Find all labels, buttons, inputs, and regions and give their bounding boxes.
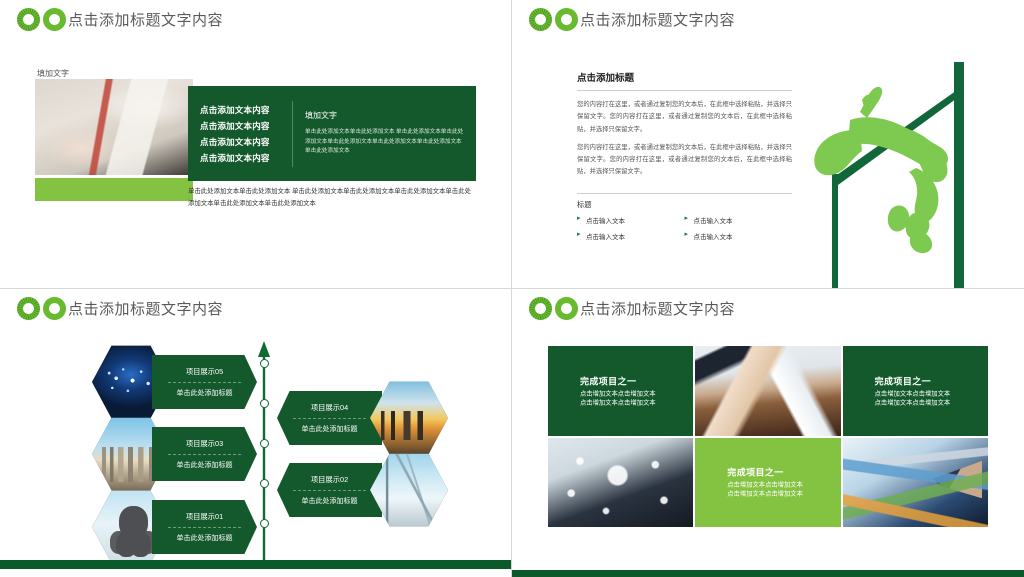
bullet-item: 点击输入文本: [685, 231, 793, 241]
item-subtitle: 单击此处添加标题: [277, 419, 382, 434]
slide-4-title: 点击添加标题文字内容: [580, 298, 735, 319]
bullet-item: 点击输入文本: [577, 215, 685, 225]
timeline-node: [260, 399, 269, 408]
slide-1-title: 点击添加标题文字内容: [68, 9, 223, 30]
bullet-item: 点击添加文本内容: [200, 136, 292, 148]
paragraph-1: 您的内容打在这里，或者通过复制您的文本后，在此框中选择粘贴，并选择只保留文字。您…: [577, 99, 792, 136]
timeline-node: [260, 479, 269, 488]
grid-cell-text[interactable]: 完成项目之一 点击增加文本点击增加文本 点击增加文本点击增加文本: [548, 346, 693, 436]
cell-line-1: 点击增加文本点击增加文本: [580, 389, 656, 398]
divider-bottom: [577, 193, 792, 194]
upward-arrow-icon: [256, 341, 272, 561]
slide-1-caption: 单击此处添加文本单击此处添加文本 单击此处添加文本单击此处添加文本单击此处添加文…: [188, 186, 476, 210]
list-item[interactable]: 项目展示02 单击此处添加标题: [277, 463, 382, 517]
item-subtitle: 单击此处添加标题: [277, 491, 382, 506]
slide-1[interactable]: 点击添加标题文字内容 填加文字 点击添加文本内容 点击添加文本内容 点击添加文本…: [0, 0, 511, 288]
bullet-item: 点击添加文本内容: [200, 120, 292, 132]
slide-4-header: 点击添加标题文字内容: [529, 297, 735, 320]
timeline-node: [260, 439, 269, 448]
slide-4[interactable]: 点击添加标题文字内容 完成项目之一 点击增加文本点击增加文本 点击增加文本点击增…: [512, 289, 1024, 577]
photo-label: 填加文字: [37, 68, 69, 79]
slide-2-text-column: 点击添加标题 您的内容打在这里，或者通过复制您的文本后，在此框中选择粘贴，并选择…: [577, 70, 792, 241]
list-item[interactable]: 项目展示05 单击此处添加标题: [152, 355, 257, 409]
list-item[interactable]: 项目展示04 单击此处添加标题: [277, 391, 382, 445]
cell-line-1: 点击增加文本点击增加文本: [875, 389, 951, 398]
item-title: 项目展示01: [152, 512, 257, 527]
hands-signing-document-photo[interactable]: [695, 346, 840, 436]
slide-3-title: 点击添加标题文字内容: [68, 298, 223, 319]
footer-accent-bar: [0, 560, 511, 569]
description-block: 填加文字 单击此处添加文本单击此处添加文本 单击此处添加文本单击此处添加文本单击…: [293, 110, 476, 157]
bullet-item: 点击添加文本内容: [200, 104, 292, 116]
grid-cell-text[interactable]: 完成项目之一 点击增加文本点击增加文本 点击增加文本点击增加文本: [843, 346, 988, 436]
bullet-list: 点击添加文本内容 点击添加文本内容 点击添加文本内容 点击添加文本内容: [188, 104, 292, 164]
footer-accent-bar: [512, 570, 1024, 577]
paragraph-2: 您的内容打在这里，或者通过复制您的文本后，在此框中选择粘贴，并选择只保留文字。您…: [577, 142, 792, 179]
item-title: 项目展示02: [277, 475, 382, 490]
list-item[interactable]: 项目展示03 单击此处添加标题: [152, 427, 257, 481]
cell-line-1: 点击增加文本点击增加文本: [727, 481, 803, 490]
cell-title: 完成项目之一: [580, 374, 656, 387]
high-jump-athlete-icon: [784, 46, 1024, 288]
timeline-node: [260, 519, 269, 528]
slide-1-header: 点击添加标题文字内容: [17, 8, 223, 31]
description-paragraph: 单击此处添加文本单击此处添加文本 单击此处添加文本单击此处添加文本单击此处添加文…: [305, 128, 464, 157]
cell-title: 完成项目之一: [727, 466, 803, 479]
cell-title: 完成项目之一: [875, 374, 951, 387]
bullet-item: 点击添加文本内容: [200, 152, 292, 164]
feature-grid: 完成项目之一 点击增加文本点击增加文本 点击增加文本点击增加文本 完成项目之一 …: [548, 346, 988, 527]
slide-3[interactable]: 点击添加标题文字内容 项目展示05 单击此处添加标题: [0, 289, 511, 577]
grid-cell-text[interactable]: 完成项目之一 点击增加文本点击增加文本 点击增加文本点击增加文本: [695, 438, 840, 528]
list-item[interactable]: 项目展示01 单击此处添加标题: [152, 500, 257, 554]
cell-line-2: 点击增加文本点击增加文本: [580, 398, 656, 407]
body-text: 您的内容打在这里，或者通过复制您的文本后，在此框中选择粘贴，并选择只保留文字。您…: [577, 91, 792, 193]
bullet-item: 点击输入文本: [577, 231, 685, 241]
bullet-item: 点击输入文本: [685, 215, 793, 225]
double-gear-ring-icon: [17, 297, 66, 320]
slide-2-title: 点击添加标题文字内容: [580, 9, 735, 30]
item-title: 项目展示03: [152, 439, 257, 454]
item-subtitle: 单击此处添加标题: [152, 528, 257, 543]
item-title: 项目展示05: [152, 367, 257, 382]
double-gear-ring-icon: [529, 297, 578, 320]
businessman-cloud-network-photo[interactable]: [548, 438, 693, 528]
item-subtitle: 单击此处添加标题: [152, 383, 257, 398]
woman-writing-notes-photo: [35, 79, 193, 175]
timeline-diagram: 项目展示05 单击此处添加标题 项目展示03 单击此处添加标题: [0, 331, 511, 556]
double-gear-ring-icon: [17, 8, 66, 31]
timeline-node: [260, 359, 269, 368]
slide-2-header: 点击添加标题文字内容: [529, 8, 735, 31]
cell-line-2: 点击增加文本点击增加文本: [727, 490, 803, 499]
bullet-grid: 点击输入文本 点击输入文本 点击输入文本 点击输入文本: [577, 215, 792, 241]
hand-touching-photos-photo[interactable]: [843, 438, 988, 528]
slide-thumbnail-grid: 点击添加标题文字内容 填加文字 点击添加文本内容 点击添加文本内容 点击添加文本…: [0, 0, 1024, 577]
cell-line-2: 点击增加文本点击增加文本: [875, 398, 951, 407]
item-subtitle: 单击此处添加标题: [152, 455, 257, 470]
content-box: 点击添加文本内容 点击添加文本内容 点击添加文本内容 点击添加文本内容 填加文字…: [188, 86, 476, 181]
item-title: 项目展示04: [277, 403, 382, 418]
section-title: 点击添加标题: [577, 70, 792, 90]
double-gear-ring-icon: [529, 8, 578, 31]
subsection-title: 标题: [577, 200, 792, 210]
slide-3-header: 点击添加标题文字内容: [17, 297, 223, 320]
accent-green-bar: [35, 178, 193, 201]
description-title: 填加文字: [305, 110, 464, 121]
slide-2[interactable]: 点击添加标题文字内容 点击添加标题 您的内容打在这里，或者通过复制您的文本后，在…: [512, 0, 1024, 288]
